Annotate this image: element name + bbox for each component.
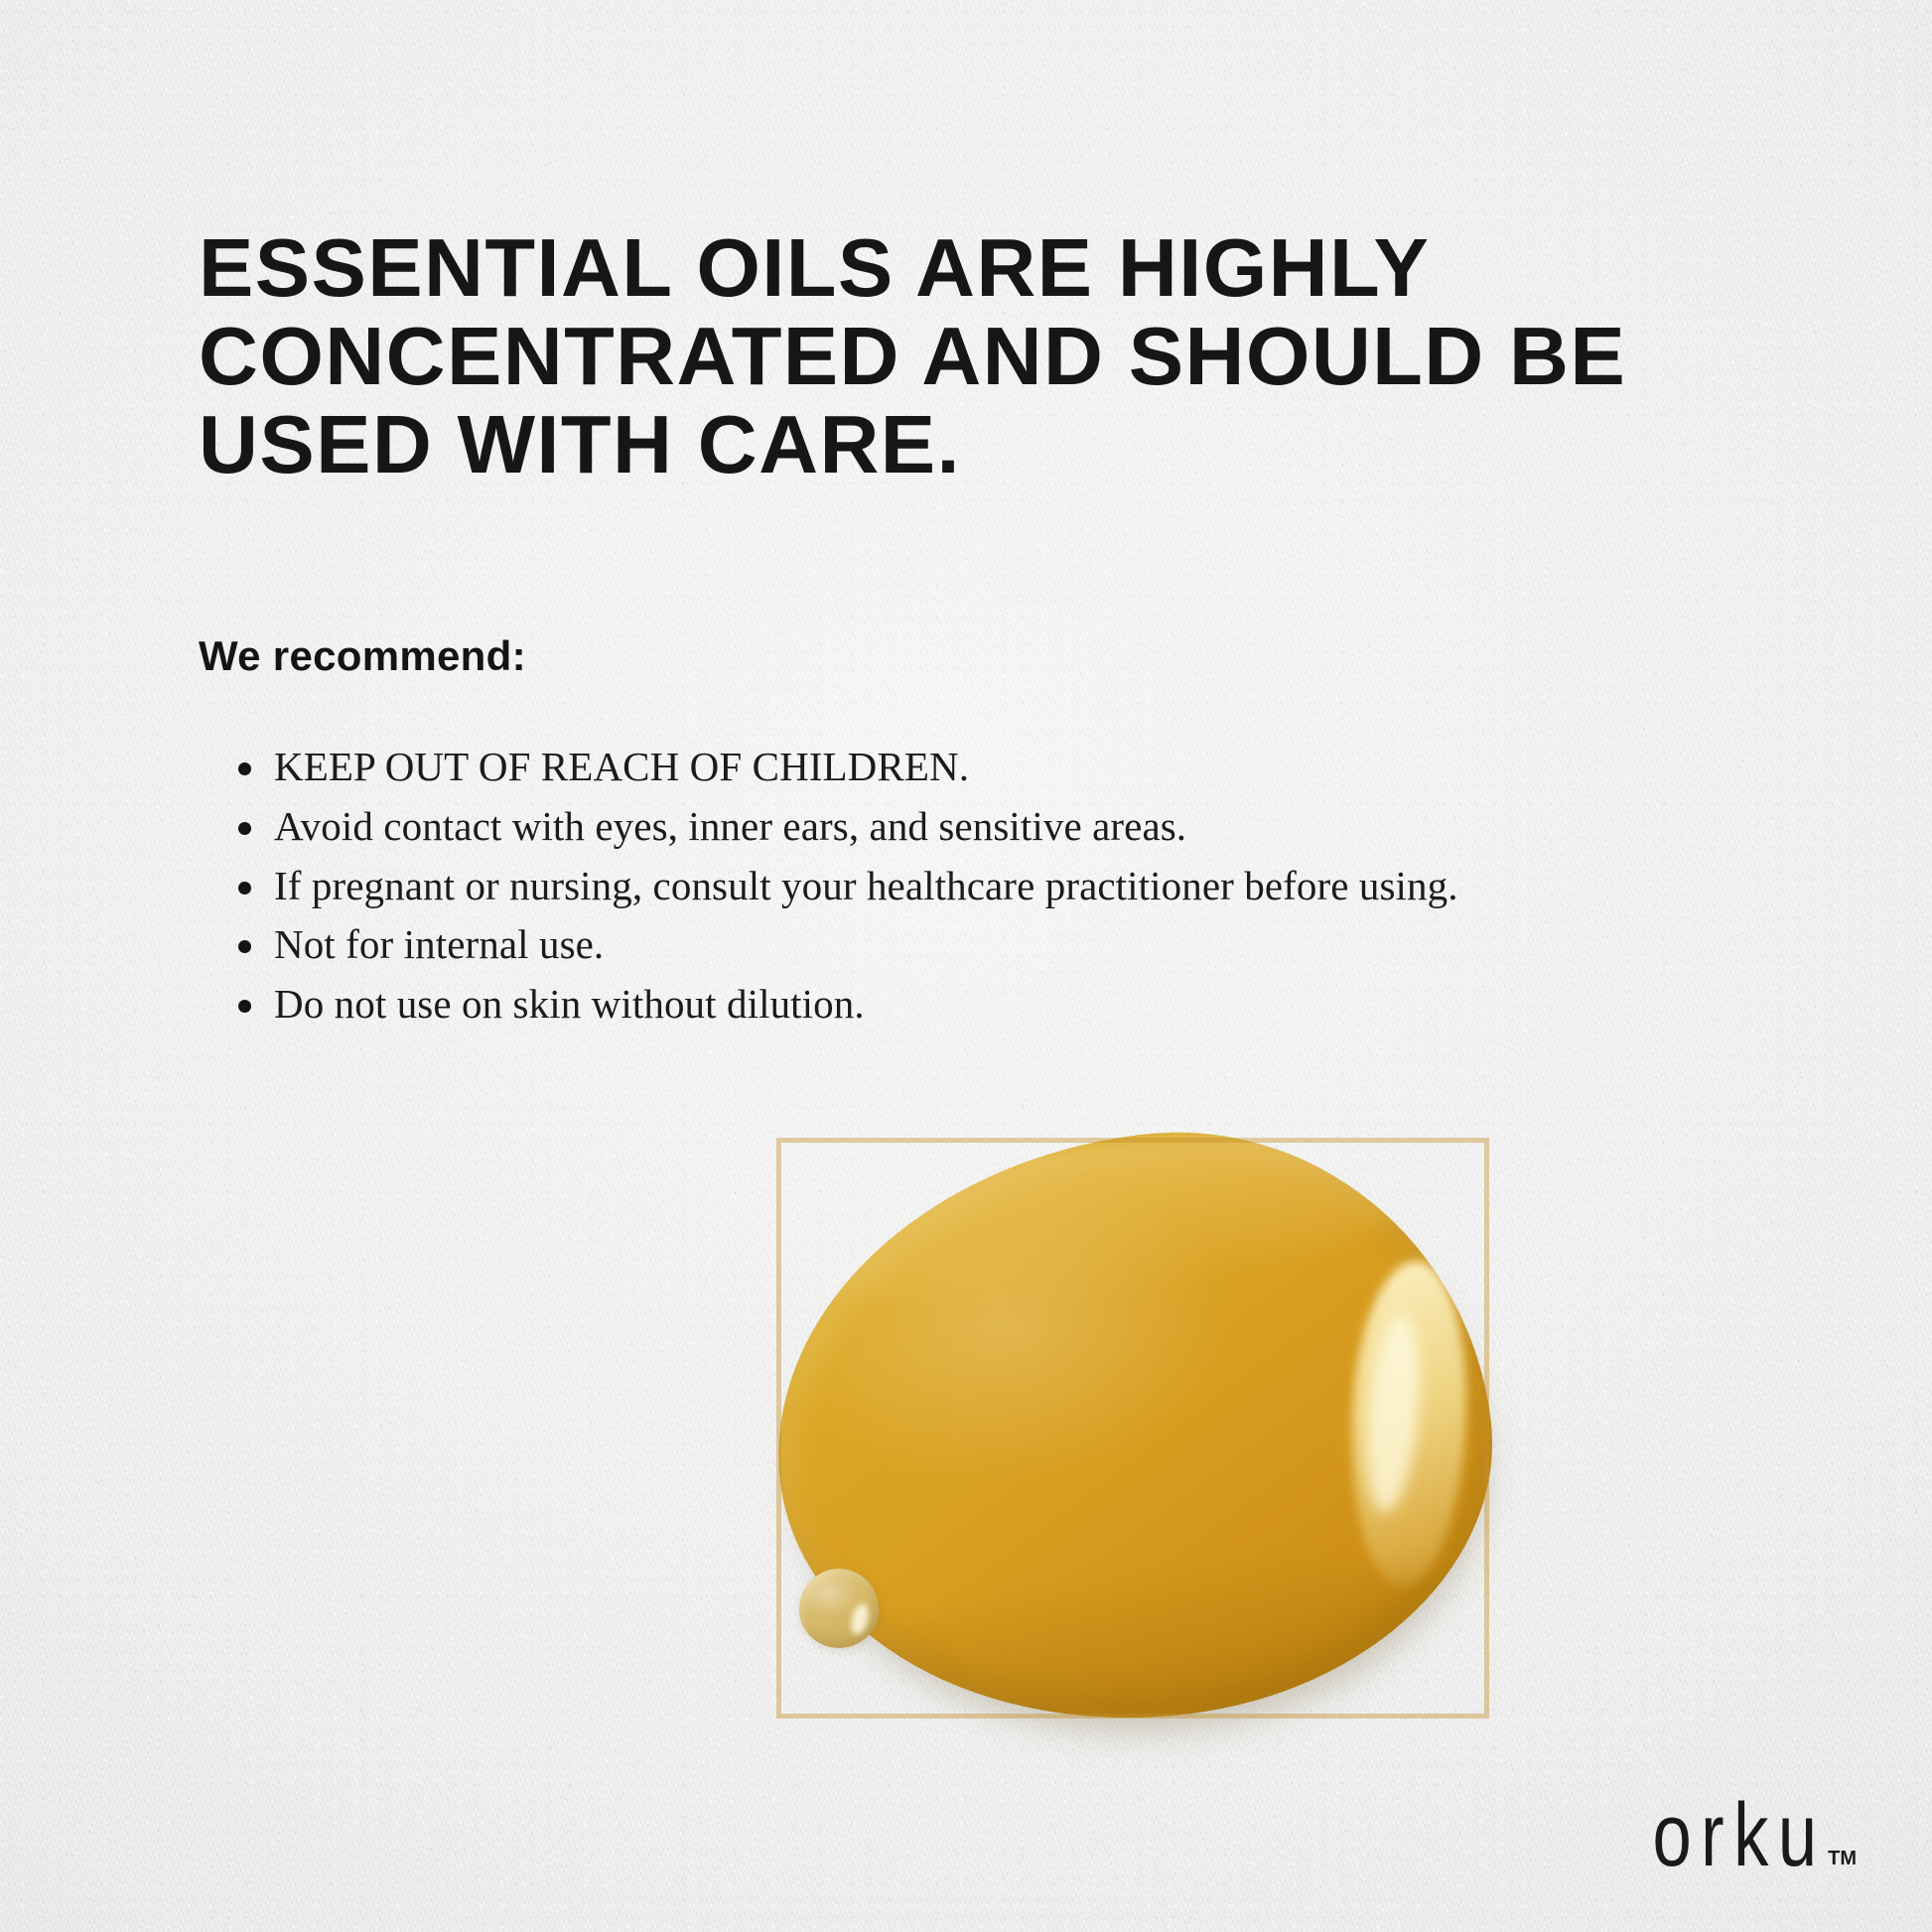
page-headline: ESSENTIAL OILS ARE HIGHLY CONCENTRATED A…: [199, 224, 1747, 488]
brand-wordmark: orku: [1652, 1796, 1826, 1876]
bullet-icon: [238, 882, 251, 895]
list-item: If pregnant or nursing, consult your hea…: [236, 862, 1785, 910]
recommendations-list: KEEP OUT OF REACH OF CHILDREN. Avoid con…: [236, 743, 1785, 1039]
list-item: KEEP OUT OF REACH OF CHILDREN.: [236, 743, 1785, 791]
recommendations-subheading: We recommend:: [199, 632, 526, 680]
bullet-icon: [238, 1000, 251, 1013]
list-item-label: KEEP OUT OF REACH OF CHILDREN.: [274, 744, 969, 789]
list-item: Not for internal use.: [236, 920, 1785, 969]
poster-canvas: ESSENTIAL OILS ARE HIGHLY CONCENTRATED A…: [0, 0, 1932, 1932]
bullet-icon: [238, 822, 251, 835]
list-item-label: Avoid contact with eyes, inner ears, and…: [274, 803, 1186, 849]
bullet-icon: [238, 940, 251, 953]
bullet-icon: [238, 762, 251, 775]
trademark-symbol: TM: [1828, 1848, 1857, 1870]
list-item: Do not use on skin without dilution.: [236, 980, 1785, 1029]
list-item-label: If pregnant or nursing, consult your hea…: [274, 863, 1458, 908]
list-item-label: Do not use on skin without dilution.: [274, 981, 865, 1027]
brand-logo: orku TM: [1624, 1803, 1857, 1876]
list-item-label: Not for internal use.: [274, 921, 604, 967]
list-item: Avoid contact with eyes, inner ears, and…: [236, 802, 1785, 851]
